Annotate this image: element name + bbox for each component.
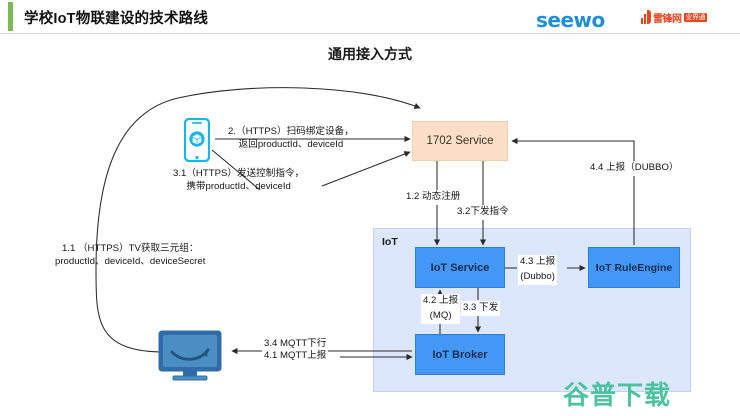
- edge-label-4-1: 4.1 MQTT上报: [262, 349, 328, 364]
- edge-3-1-path: [322, 152, 410, 186]
- node-iot-service-label: IoT Service: [431, 262, 490, 274]
- edge-label-3-3: 3.3 下发: [461, 301, 500, 316]
- edge-4-4-path: [512, 141, 634, 245]
- television-icon: [157, 330, 223, 382]
- diagram-connectors: [0, 0, 740, 416]
- edge-label-1-1: 1.1 （HTTPS）TV获取三元组： productId、deviceId、d…: [55, 243, 205, 269]
- edge-label-4-2: 4.2 上报 (MQ): [421, 294, 460, 324]
- slide-page: 学校IoT物联建设的技术路线 seewo 雷锋网 业界通 通用接入方式 IoT: [0, 0, 740, 416]
- edge-label-4-3: 4.3 上报 (Dubbo): [518, 255, 557, 285]
- edge-label-3-2: 3.2下发指令: [455, 205, 511, 220]
- smartphone-icon: [184, 118, 210, 162]
- node-1702-service-label: 1702 Service: [426, 135, 493, 147]
- edge-label-2: 2.（HTTPS）扫码绑定设备， 返回productId、deviceId: [228, 126, 354, 152]
- node-iot-broker-label: IoT Broker: [432, 349, 487, 361]
- node-iot-service[interactable]: IoT Service: [415, 247, 505, 288]
- node-1702-service[interactable]: 1702 Service: [412, 121, 508, 161]
- watermark: 谷普下载: [563, 375, 671, 412]
- node-iot-ruleengine[interactable]: IoT RuleEngine: [588, 247, 680, 288]
- edge-label-1-2: 1.2 动态注册: [404, 190, 462, 205]
- edge-label-3-1: 3.1（HTTPS）发送控制指令， 携带productId、deviceId: [173, 168, 304, 194]
- node-iot-ruleengine-label: IoT RuleEngine: [596, 262, 672, 274]
- edge-label-4-4: 4.4 上报（DUBBO）: [588, 161, 681, 176]
- node-iot-broker[interactable]: IoT Broker: [415, 334, 505, 375]
